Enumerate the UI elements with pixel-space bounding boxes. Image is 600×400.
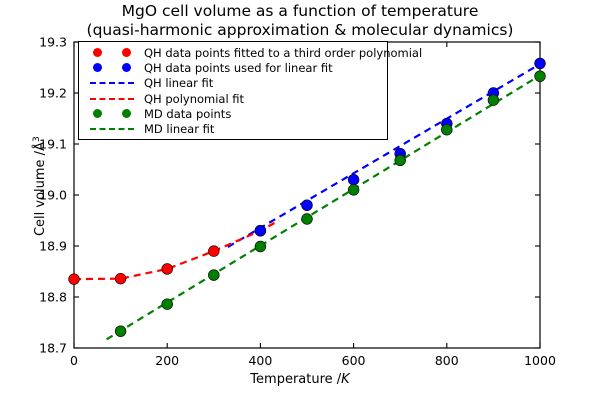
legend-dot (93, 109, 102, 118)
legend-label: MD linear fit (141, 122, 214, 136)
data-point (488, 95, 499, 106)
legend-label: MD data points (141, 107, 231, 121)
data-point (441, 124, 452, 135)
data-point (115, 326, 126, 337)
x-tick-label: 1000 (524, 353, 556, 368)
data-point (255, 241, 266, 252)
legend-dot (93, 63, 102, 72)
legend-marker-icon (83, 109, 141, 118)
legend-dot (93, 48, 102, 57)
legend-item: QH polynomial fit (83, 91, 383, 106)
legend-dot (122, 48, 131, 57)
legend-line-icon (83, 98, 141, 100)
data-point (162, 299, 173, 310)
legend-item: MD linear fit (83, 121, 383, 136)
y-tick-label: 19.3 (39, 35, 67, 50)
y-axis-label: Cell volume /Å3 (32, 76, 48, 296)
data-point (69, 274, 80, 285)
data-point (115, 273, 126, 284)
chart-figure: MgO cell volume as a function of tempera… (0, 0, 600, 400)
legend-item: QH data points fitted to a third order p… (83, 45, 383, 60)
series-line (74, 221, 279, 280)
legend-dash (90, 98, 134, 100)
data-point (208, 270, 219, 281)
legend-label: QH linear fit (141, 76, 213, 90)
legend-dash (90, 82, 134, 84)
data-point (255, 225, 266, 236)
chart-legend: QH data points fitted to a third order p… (78, 41, 388, 140)
x-tick-label: 0 (70, 353, 78, 368)
legend-item: QH linear fit (83, 76, 383, 91)
legend-line-icon (83, 82, 141, 84)
y-axis-exponent: 3 (32, 136, 42, 142)
data-point (162, 264, 173, 275)
legend-item: MD data points (83, 106, 383, 121)
data-point (302, 200, 313, 211)
legend-label: QH polynomial fit (141, 92, 244, 106)
x-tick-label: 400 (248, 353, 272, 368)
data-point (348, 174, 359, 185)
x-axis-label-text: Temperature / (250, 372, 341, 387)
x-axis-label: Temperature /K (0, 372, 600, 387)
x-tick-label: 800 (435, 353, 459, 368)
x-axis-unit: K (341, 372, 350, 387)
x-tick-label: 200 (155, 353, 179, 368)
legend-label: QH data points fitted to a third order p… (141, 46, 422, 60)
data-point (535, 58, 546, 69)
data-point (395, 155, 406, 166)
legend-dash (90, 128, 134, 130)
y-tick-label: 18.7 (39, 341, 67, 356)
data-point (535, 71, 546, 82)
legend-marker-icon (83, 63, 141, 72)
legend-marker-icon (83, 48, 141, 57)
legend-line-icon (83, 128, 141, 130)
legend-dot (122, 109, 131, 118)
data-point (302, 214, 313, 225)
legend-label: QH data points used for linear fit (141, 61, 333, 75)
data-point (348, 185, 359, 196)
y-axis-label-text: Cell volume /Å (33, 142, 48, 236)
legend-dot (122, 63, 131, 72)
legend-item: QH data points used for linear fit (83, 60, 383, 75)
x-tick-label: 600 (342, 353, 366, 368)
data-point (208, 246, 219, 257)
